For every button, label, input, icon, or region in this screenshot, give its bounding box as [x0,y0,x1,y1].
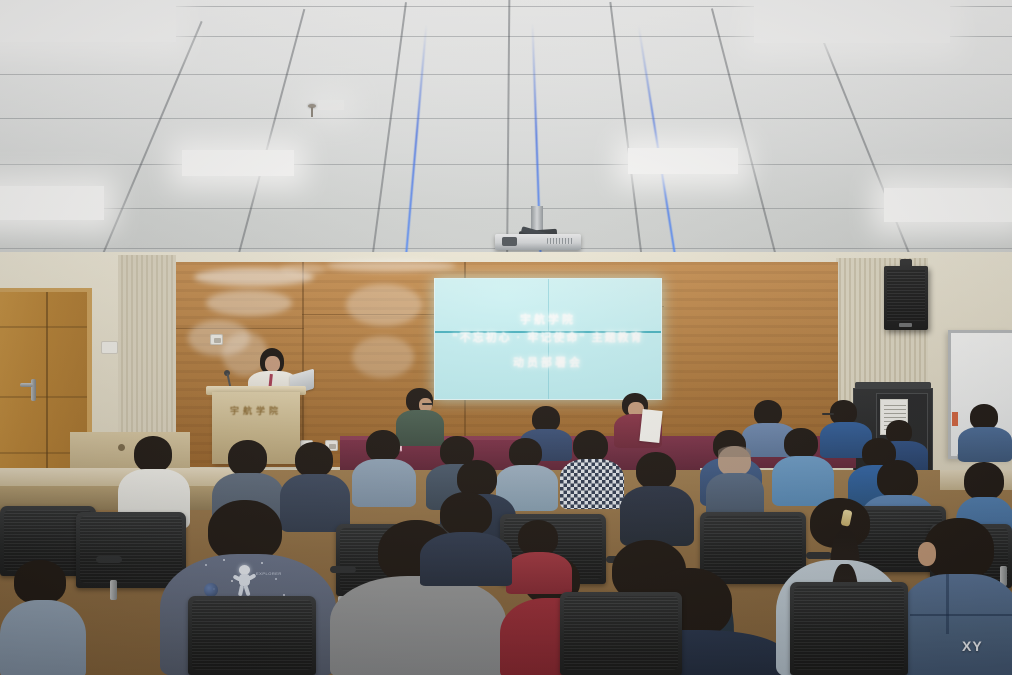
chair-arm [96,556,122,563]
ceiling-light-panel [628,148,738,174]
audience-person-red [506,520,572,590]
astro-tag-text: EXPLORER [256,571,282,576]
slide-title-line2: "不忘初心 · 牢记使命" 主题教育 [435,329,661,345]
wall-mounted-speaker [884,266,928,330]
presenter-face [265,356,280,372]
denim-jacket-attendee [900,518,1012,675]
light-switch-plate[interactable] [101,341,118,354]
eyeglasses-icon [822,413,834,415]
ceiling-light-panel [318,100,344,110]
audience-person [772,428,834,504]
audience-person-balding [706,446,764,518]
lectern-engraved-text: 宇航学院 [224,404,288,417]
ceiling-light-panel [0,186,104,220]
audience-person [0,560,86,675]
wall-socket[interactable] [210,334,223,345]
chair-post [110,580,117,600]
audience-person [620,452,694,544]
auditorium-chair[interactable] [188,596,316,675]
audience-person [420,492,512,582]
slide-title-line1: 宇航学院 [435,311,661,327]
auditorium-chair[interactable] [790,582,908,675]
slat-wall-panel-left [118,255,176,455]
ceiling-projector [495,228,581,250]
projector-vent [547,238,573,244]
ceiling-light-panel [884,188,1012,222]
sprinkler-head-icon [307,104,317,117]
ceiling-light-panel [0,0,176,42]
projection-screen: 宇航学院 "不忘初心 · 牢记使命" 主题教育 动员部署会 [434,278,662,400]
ceiling-light-panel [754,0,950,43]
eyeglasses-icon [422,403,433,405]
back-row-person [958,404,1012,458]
xy-logo-text: XY [962,638,983,654]
projector-lens-icon [502,237,517,246]
audience-person-checkered [560,430,624,506]
auditorium-chair[interactable] [560,592,682,675]
audience-person [352,430,416,504]
held-document [639,409,662,443]
checkered-shirt [560,459,624,509]
conference-room-photo: 宇航学院 "不忘初心 · 牢记使命" 主题教育 动员部署会 [0,0,1012,675]
door-lever-icon[interactable] [20,383,33,387]
ceiling-light-panel [182,150,294,176]
slide-title-line3: 动员部署会 [435,354,661,370]
